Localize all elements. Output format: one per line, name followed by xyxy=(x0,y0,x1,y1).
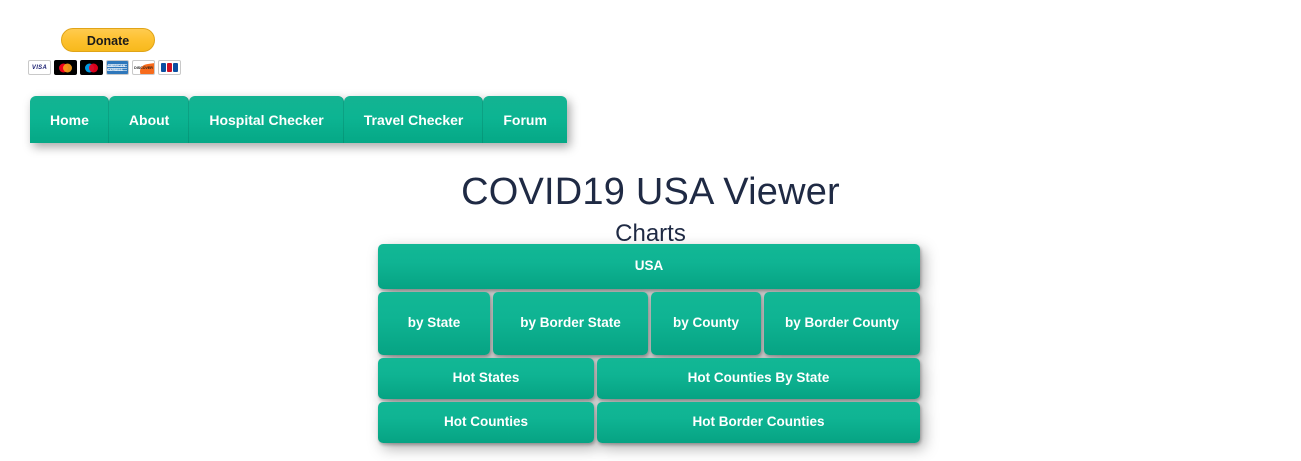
mastercard-card-icon xyxy=(54,60,77,75)
accepted-cards-row: VISA AMERICAN EXPRESS DISCOVER xyxy=(28,60,188,75)
page-title: COVID19 USA Viewer xyxy=(0,171,1301,214)
amex-card-icon: AMERICAN EXPRESS xyxy=(106,60,129,75)
chart-menu-row-usa: USA xyxy=(378,244,920,289)
chart-menu-row-hot-counties: Hot Counties Hot Border Counties xyxy=(378,402,920,443)
nav-item-forum-label: Forum xyxy=(503,112,547,128)
nav-item-travel-checker-label: Travel Checker xyxy=(364,112,464,128)
chart-button-usa[interactable]: USA xyxy=(378,244,920,289)
nav-item-about[interactable]: About xyxy=(109,96,189,143)
nav-item-hospital-checker-label: Hospital Checker xyxy=(209,112,323,128)
jcb-bar-red xyxy=(167,63,172,72)
donate-block: Donate VISA AMERICAN EXPRESS DISCOVER xyxy=(28,28,188,75)
jcb-bar-blue-right xyxy=(173,63,178,72)
chart-button-hot-counties-by-state[interactable]: Hot Counties By State xyxy=(597,358,920,399)
nav-item-home[interactable]: Home xyxy=(30,96,109,143)
jcb-bar-blue-left xyxy=(161,63,166,72)
nav-item-hospital-checker[interactable]: Hospital Checker xyxy=(189,96,343,143)
maestro-right-circle xyxy=(89,63,98,72)
nav-item-home-label: Home xyxy=(50,112,89,128)
maestro-card-icon xyxy=(80,60,103,75)
chart-button-by-border-state[interactable]: by Border State xyxy=(493,292,648,355)
chart-button-by-county[interactable]: by County xyxy=(651,292,761,355)
discover-card-label: DISCOVER xyxy=(134,66,153,70)
visa-card-label: VISA xyxy=(32,65,47,71)
amex-card-label: AMERICAN EXPRESS xyxy=(107,64,128,72)
chart-menu-row-hot-states: Hot States Hot Counties By State xyxy=(378,358,920,399)
discover-card-icon: DISCOVER xyxy=(132,60,155,75)
donate-button[interactable]: Donate xyxy=(61,28,155,52)
nav-item-about-label: About xyxy=(129,112,169,128)
chart-button-by-state[interactable]: by State xyxy=(378,292,490,355)
chart-menu-row-by: by State by Border State by County by Bo… xyxy=(378,292,920,355)
chart-button-by-border-county[interactable]: by Border County xyxy=(764,292,920,355)
chart-button-hot-counties[interactable]: Hot Counties xyxy=(378,402,594,443)
nav-item-forum[interactable]: Forum xyxy=(483,96,567,143)
visa-card-icon: VISA xyxy=(28,60,51,75)
chart-button-hot-border-counties[interactable]: Hot Border Counties xyxy=(597,402,920,443)
chart-menu-panel: USA by State by Border State by County b… xyxy=(378,244,920,443)
mastercard-right-circle xyxy=(63,63,72,72)
nav-item-travel-checker[interactable]: Travel Checker xyxy=(344,96,484,143)
main-navigation: Home About Hospital Checker Travel Check… xyxy=(30,96,567,143)
chart-button-hot-states[interactable]: Hot States xyxy=(378,358,594,399)
jcb-card-icon xyxy=(158,60,181,75)
